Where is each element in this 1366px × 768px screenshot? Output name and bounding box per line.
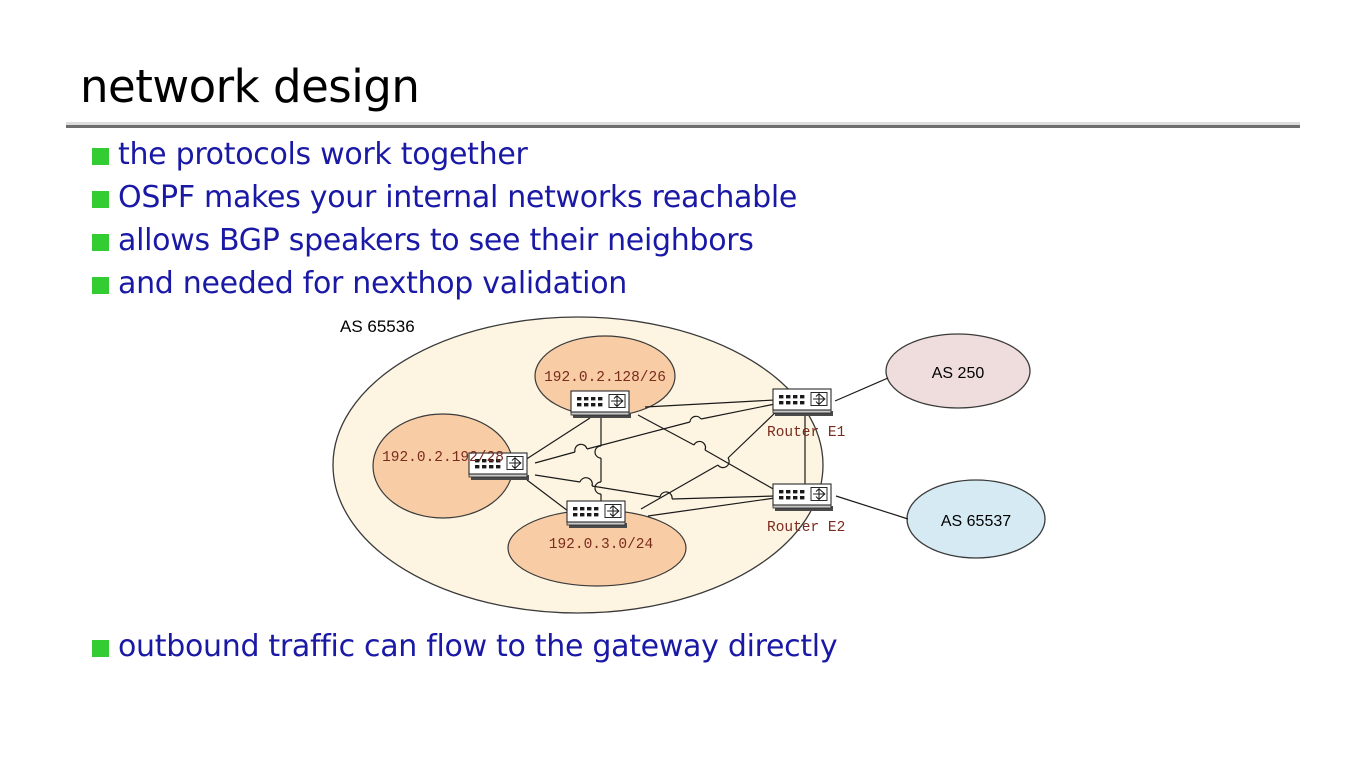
bullet-square-icon xyxy=(92,277,109,294)
router-label-e2: Router E2 xyxy=(767,520,845,536)
bullet-item-1: OSPF makes your internal networks reacha… xyxy=(92,183,797,213)
bullet-label: and needed for nexthop validation xyxy=(118,269,627,299)
router-label-e1: Router E1 xyxy=(767,425,845,441)
router-device-e1 xyxy=(773,389,833,416)
bullet-item-2: allows BGP speakers to see their neighbo… xyxy=(92,226,754,256)
bullet-item-3: and needed for nexthop validation xyxy=(92,269,627,299)
bullet-label: outbound traffic can flow to the gateway… xyxy=(118,632,837,662)
title-divider xyxy=(66,122,1300,128)
bullet-item-4: outbound traffic can flow to the gateway… xyxy=(92,632,837,662)
page-title: network design xyxy=(80,64,419,109)
router-device-bottom xyxy=(567,501,627,528)
subnet-label-192-0-2-128: 192.0.2.128/26 xyxy=(544,370,666,386)
bullet-square-icon xyxy=(92,640,109,657)
subnet-label-192-0-3-0: 192.0.3.0/24 xyxy=(549,537,653,553)
peer-as-250-label: AS 250 xyxy=(932,365,985,382)
peer-as-65537-label: AS 65537 xyxy=(941,513,1011,530)
as-cloud-label: AS 65536 xyxy=(340,317,415,336)
bullet-label: OSPF makes your internal networks reacha… xyxy=(118,183,797,213)
bullet-label: allows BGP speakers to see their neighbo… xyxy=(118,226,754,256)
bullet-square-icon xyxy=(92,234,109,251)
bullet-square-icon xyxy=(92,191,109,208)
title-divider-line xyxy=(66,125,1300,128)
router-device-e2 xyxy=(773,484,833,511)
network-topology-diagram: AS 65536 192.0.2.128/26 192.0.2.192/28 1… xyxy=(0,300,1366,630)
router-device-top xyxy=(571,391,631,418)
bullet-item-0: the protocols work together xyxy=(92,140,528,170)
subnet-label-192-0-2-192: 192.0.2.192/28 xyxy=(382,450,504,466)
bullet-label: the protocols work together xyxy=(118,140,528,170)
bullet-square-icon xyxy=(92,148,109,165)
